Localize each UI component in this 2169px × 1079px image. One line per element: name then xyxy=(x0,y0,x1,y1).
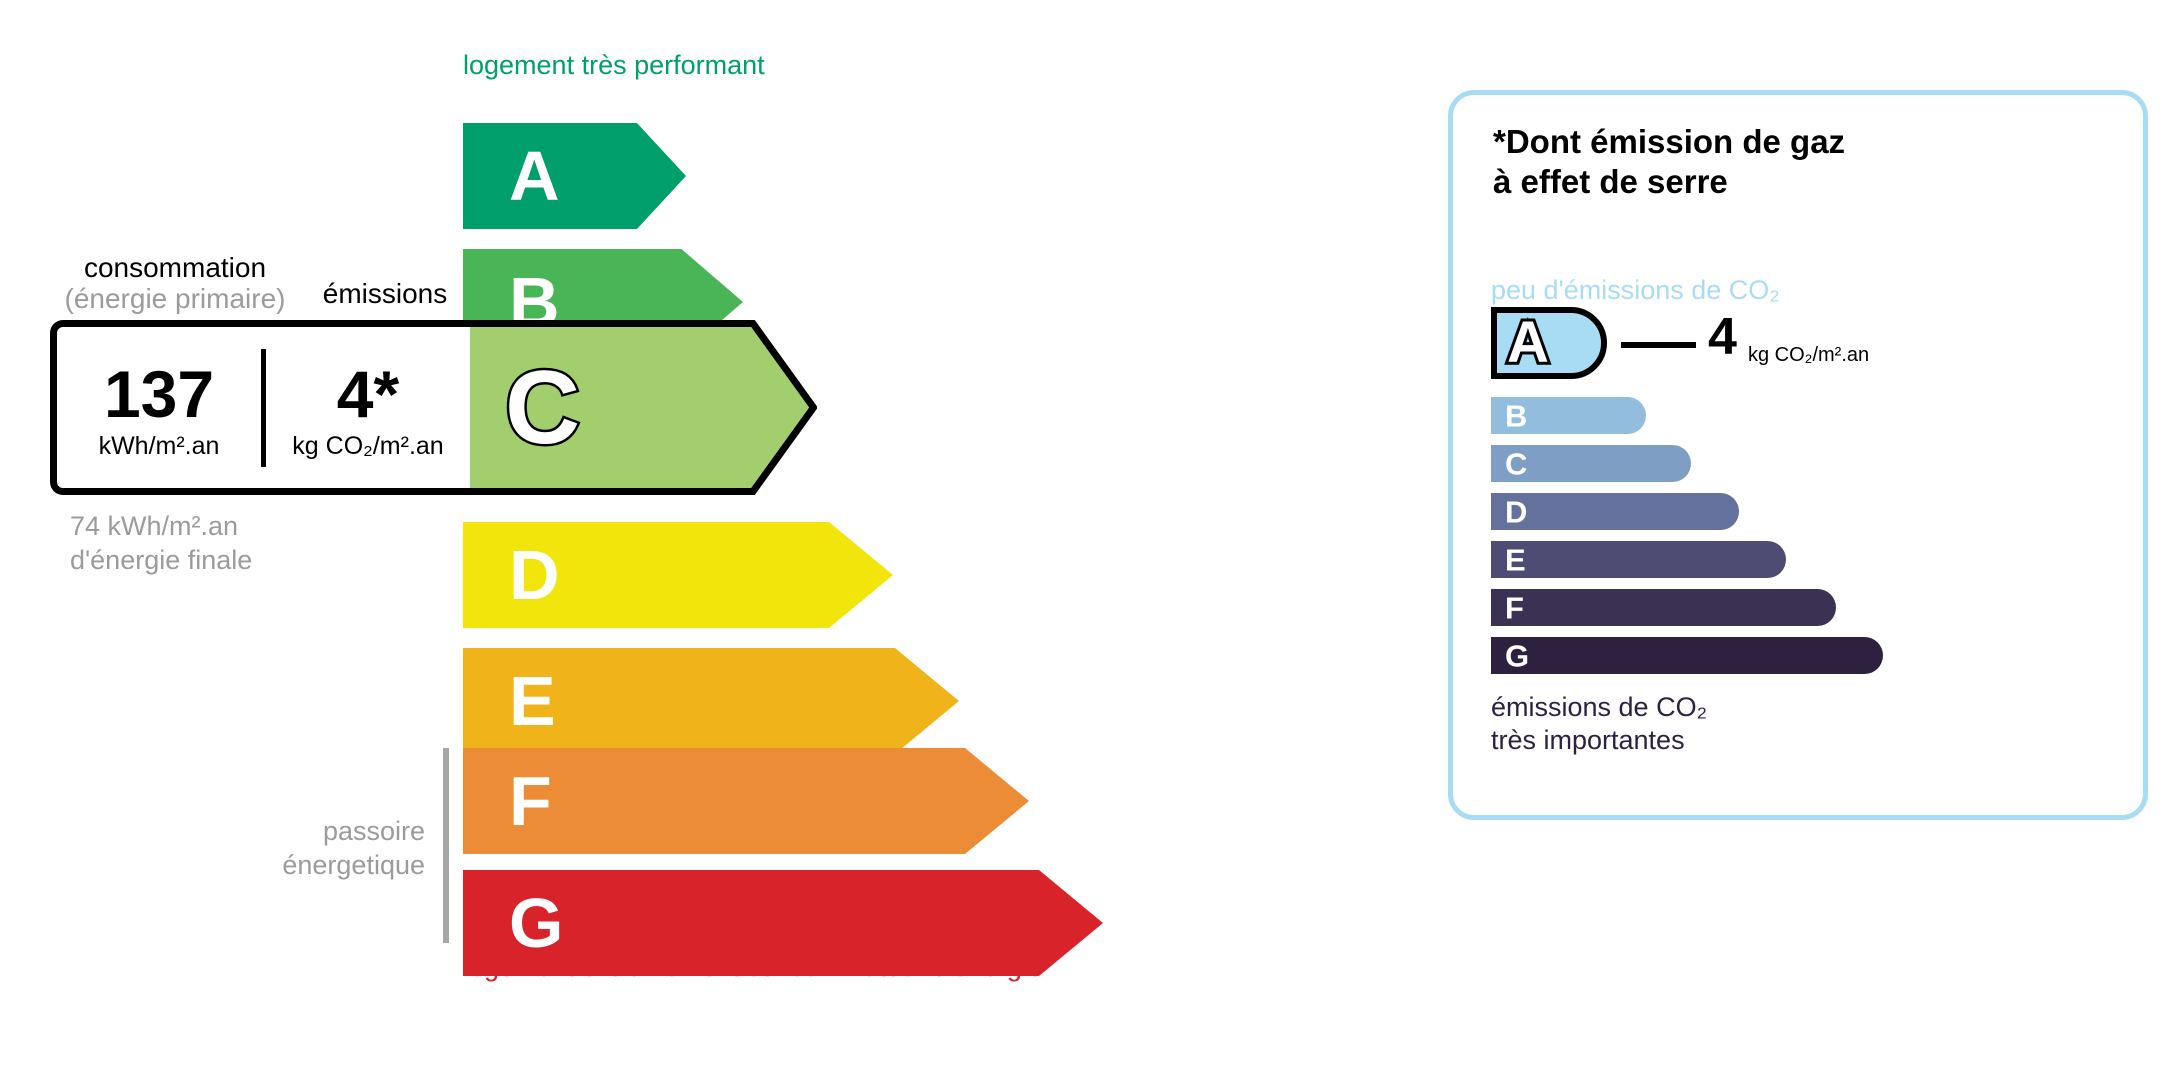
grade-arrow-shape: C xyxy=(463,320,817,495)
emissions-value: 4* xyxy=(266,362,470,427)
co2-selected-badge: A xyxy=(1491,307,1607,379)
co2-top-caption: peu d'émissions de CO₂ xyxy=(1491,275,1780,306)
grade-arrow-e: E xyxy=(463,648,959,754)
grade-letter-g: G xyxy=(509,888,563,958)
final-energy-note: 74 kWh/m².an d'énergie finale xyxy=(70,510,252,578)
final-energy-line2: d'énergie finale xyxy=(70,544,252,578)
grade-arrow-d: D xyxy=(463,522,893,628)
energy-bottom-caption: logement extrêmement consommateur d'éner… xyxy=(463,952,1043,983)
co2-bottom-line2: très importantes xyxy=(1491,724,1707,757)
co2-bar-letter-f: F xyxy=(1505,592,1524,623)
consumption-cell: 137 kWh/m².an xyxy=(57,349,266,467)
co2-bar-d: D xyxy=(1491,493,1739,530)
energy-top-caption: logement très performant xyxy=(463,50,765,81)
grade-letter-f: F xyxy=(509,766,552,836)
emissions-header: émissions xyxy=(300,278,470,310)
grade-arrow-a: A xyxy=(463,123,686,229)
passoire-label: passoire énergetique xyxy=(250,815,425,883)
co2-bottom-line1: émissions de CO₂ xyxy=(1491,691,1707,724)
final-energy-line1: 74 kWh/m².an xyxy=(70,510,252,544)
co2-bar-c: C xyxy=(1491,445,1691,482)
grade-arrow-shape: E xyxy=(463,648,959,754)
grade-arrow-shape: A xyxy=(463,123,686,229)
co2-panel-title: *Dont émission de gaz à effet de serre xyxy=(1493,122,1845,203)
passoire-bracket xyxy=(443,748,449,943)
ges-co2-panel: *Dont émission de gaz à effet de serre p… xyxy=(1448,90,2148,820)
energy-scale-panel: logement très performant ABCDEFG consomm… xyxy=(0,0,1360,1079)
co2-title-line2: à effet de serre xyxy=(1493,162,1845,202)
co2-bar-letter-c: C xyxy=(1505,448,1527,479)
grade-letter-e: E xyxy=(509,666,556,736)
consumption-header: consommation (énergie primaire) xyxy=(50,252,300,315)
co2-bar-f: F xyxy=(1491,589,1836,626)
emissions-unit: kg CO₂/m².an xyxy=(266,432,470,461)
co2-selected-value: 4 xyxy=(1708,311,1737,363)
co2-bar-e: E xyxy=(1491,541,1786,578)
grade-letter-c: C xyxy=(505,356,580,460)
emissions-cell: 4* kg CO₂/m².an xyxy=(266,349,470,467)
consumption-header-sub: (énergie primaire) xyxy=(50,283,300,314)
co2-bar-letter-e: E xyxy=(1505,544,1526,575)
co2-title-line1: *Dont émission de gaz xyxy=(1493,122,1845,162)
grade-arrow-f: F xyxy=(463,748,1029,854)
passoire-line1: passoire xyxy=(250,815,425,849)
co2-bottom-caption: émissions de CO₂ très importantes xyxy=(1491,691,1707,757)
grade-arrow-c: C xyxy=(463,320,817,495)
co2-selected-letter: A xyxy=(1507,314,1549,372)
consumption-unit: kWh/m².an xyxy=(57,432,261,461)
co2-bar-letter-g: G xyxy=(1505,640,1529,671)
values-box: 137 kWh/m².an 4* kg CO₂/m².an xyxy=(50,320,470,495)
grade-letter-a: A xyxy=(509,141,560,211)
passoire-line2: énergetique xyxy=(250,849,425,883)
co2-bar-letter-b: B xyxy=(1505,400,1527,431)
co2-bar-g: G xyxy=(1491,637,1883,674)
consumption-value: 137 xyxy=(57,362,261,427)
grade-letter-d: D xyxy=(509,540,560,610)
consumption-header-main: consommation xyxy=(84,252,266,283)
co2-selected-unit: kg CO₂/m².an xyxy=(1748,344,1869,367)
grade-arrow-shape: D xyxy=(463,522,893,628)
co2-connector-line xyxy=(1621,342,1696,348)
co2-bar-b: B xyxy=(1491,397,1646,434)
co2-bar-letter-d: D xyxy=(1505,496,1527,527)
grade-arrow-shape: F xyxy=(463,748,1029,854)
dpe-energy-label: logement très performant ABCDEFG consomm… xyxy=(0,0,2169,1079)
